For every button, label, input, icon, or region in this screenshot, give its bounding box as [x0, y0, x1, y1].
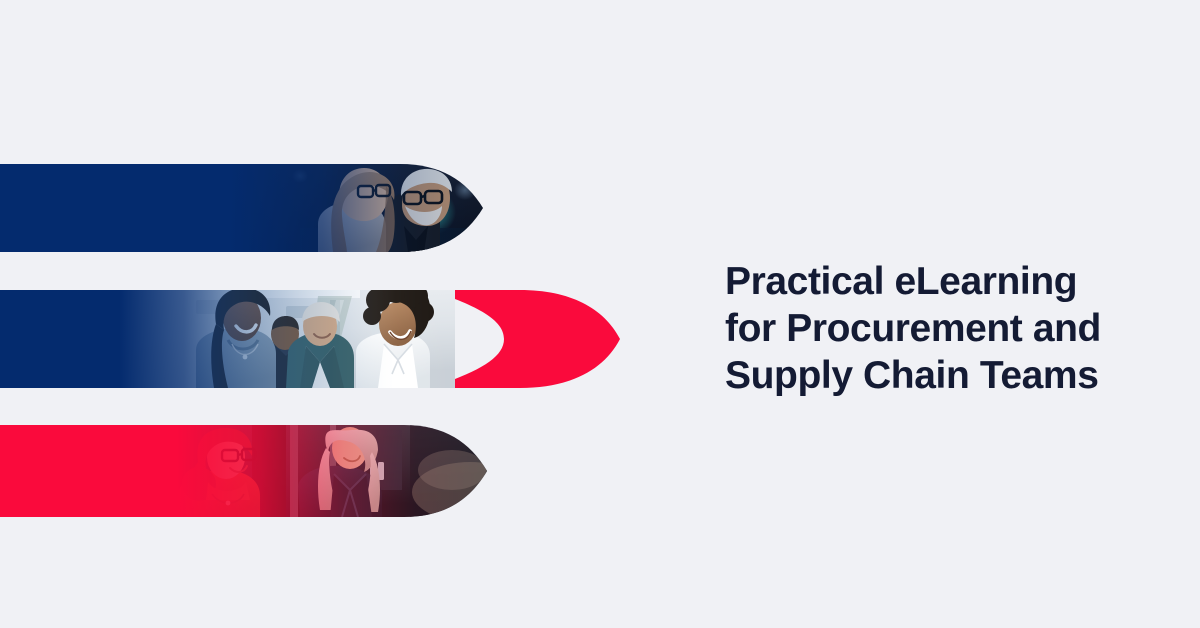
headline: Practical eLearning for Procurement and … — [725, 258, 1145, 399]
bar-2-navy-photo — [0, 277, 460, 388]
banner-canvas: Practical eLearning for Procurement and … — [0, 0, 1200, 628]
bar-2-red-arrow — [430, 290, 620, 388]
arrow-bars-graphic — [0, 0, 660, 628]
headline-line-1: Practical eLearning — [725, 258, 1145, 305]
bar-1-navy-photo — [0, 164, 520, 254]
headline-line-2: for Procurement and — [725, 305, 1145, 352]
bar-3-red-photo — [0, 425, 528, 522]
headline-line-3: Supply Chain Teams — [725, 352, 1145, 399]
